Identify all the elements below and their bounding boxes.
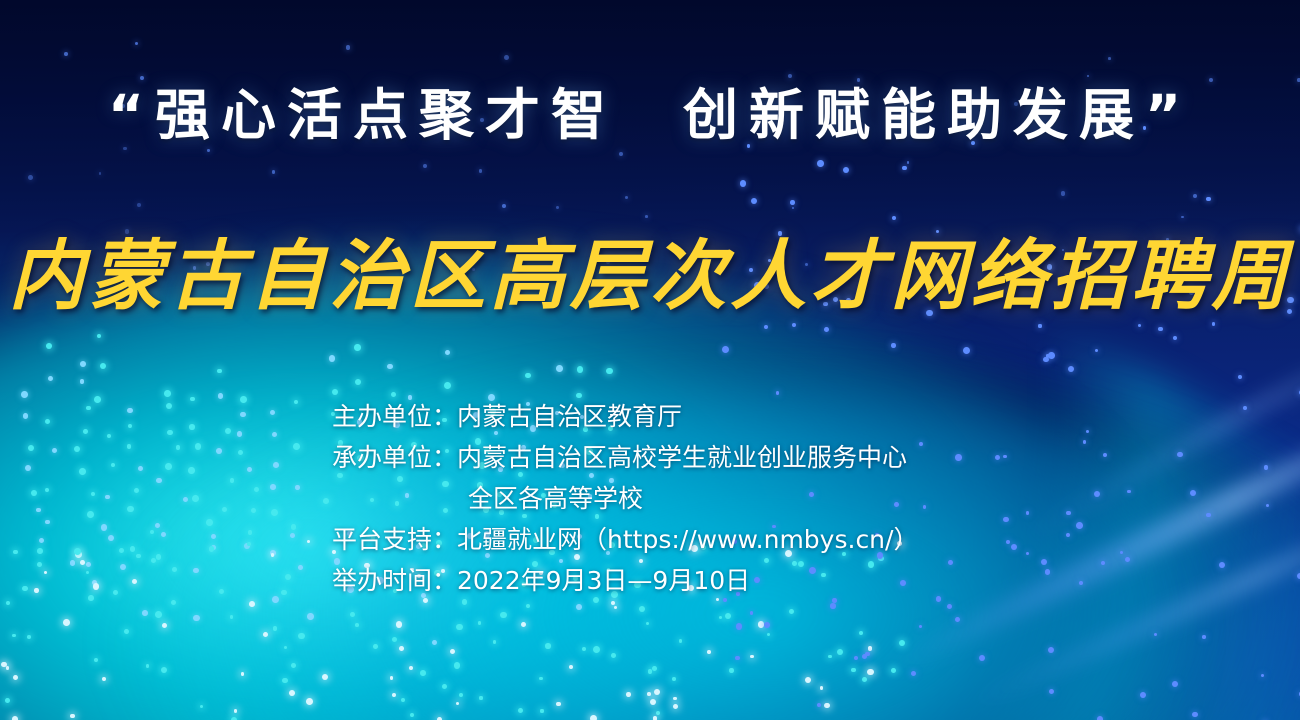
event-details-block: 主办单位：内蒙古自治区教育厅承办单位：内蒙古自治区高校学生就业创业服务中心全区各…: [332, 396, 1032, 601]
event-detail-line: 主办单位：内蒙古自治区教育厅: [332, 396, 1032, 437]
event-detail-line: 全区各高等学校: [332, 478, 1032, 519]
event-detail-line: 平台支持：北疆就业网（https://www.nmbys.cn/）: [332, 519, 1032, 560]
poster-content: “强心活点聚才智 创新赋能助发展” 内蒙古自治区高层次人才网络招聘周 主办单位：…: [0, 0, 1300, 720]
event-detail-line: 举办时间：2022年9月3日—9月10日: [332, 560, 1032, 601]
page-title: 内蒙古自治区高层次人才网络招聘周: [0, 238, 1300, 314]
page-slogan: “强心活点聚才智 创新赋能助发展”: [0, 86, 1300, 144]
poster-canvas: “强心活点聚才智 创新赋能助发展” 内蒙古自治区高层次人才网络招聘周 主办单位：…: [0, 0, 1300, 720]
event-detail-line: 承办单位：内蒙古自治区高校学生就业创业服务中心: [332, 437, 1032, 478]
